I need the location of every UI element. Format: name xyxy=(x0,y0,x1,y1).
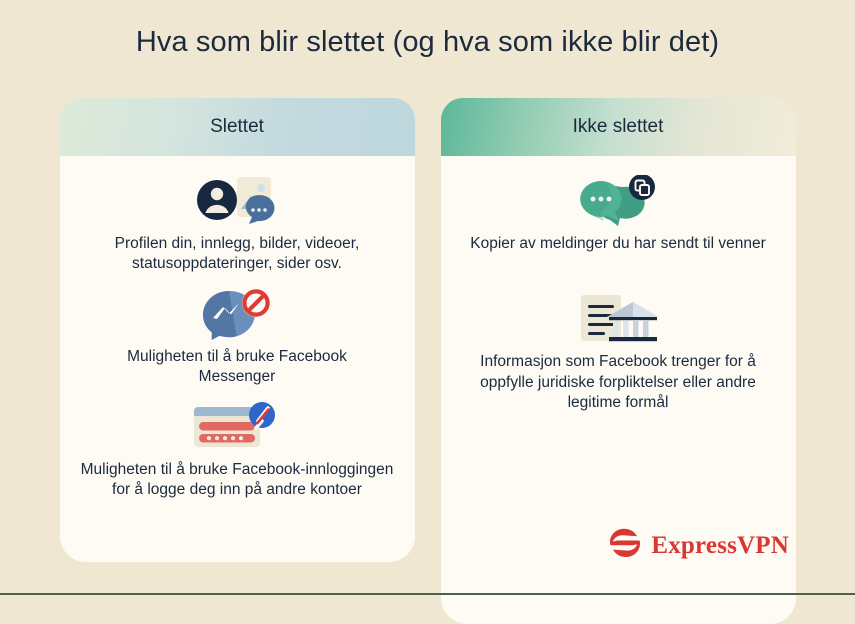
list-item: Profilen din, innlegg, bilder, videoer, … xyxy=(74,174,401,275)
expressvpn-logo-icon xyxy=(608,528,642,563)
login-credentials-key-icon xyxy=(192,400,282,454)
list-item: Muligheten til å bruke Facebook-innloggi… xyxy=(74,400,401,501)
list-item: Muligheten til å bruke Facebook Messenge… xyxy=(74,287,401,388)
messenger-blocked-icon xyxy=(199,287,275,341)
column-header-deleted-label: Slettet xyxy=(210,116,264,138)
list-item: Informasjon som Facebook trenger for å o… xyxy=(455,292,782,413)
column-body-deleted: Profilen din, innlegg, bilder, videoer, … xyxy=(60,156,415,562)
brand-logo: ExpressVPN xyxy=(608,528,789,563)
column-header-not-deleted-label: Ikke slettet xyxy=(573,116,664,138)
column-header-not-deleted: Ikke slettet xyxy=(441,98,796,156)
bottom-divider xyxy=(0,593,855,595)
document-bank-icon xyxy=(575,292,661,346)
list-item-label: Profilen din, innlegg, bilder, videoer, … xyxy=(87,234,387,275)
page-title: Hva som blir slettet (og hva som ikke bl… xyxy=(0,26,855,59)
list-item-label: Muligheten til å bruke Facebook Messenge… xyxy=(87,347,387,388)
infographic-root: Hva som blir slettet (og hva som ikke bl… xyxy=(0,0,855,597)
list-item-label: Kopier av meldinger du har sendt til ven… xyxy=(470,234,766,254)
chat-copy-icon xyxy=(576,174,660,228)
column-header-deleted: Slettet xyxy=(60,98,415,156)
list-item-label: Muligheten til å bruke Facebook-innloggi… xyxy=(77,460,397,501)
list-item-label: Informasjon som Facebook trenger for å o… xyxy=(468,352,768,413)
list-item: Kopier av meldinger du har sendt til ven… xyxy=(455,174,782,254)
profile-photo-message-icon xyxy=(191,174,283,228)
brand-name: ExpressVPN xyxy=(651,532,789,560)
column-deleted: Slettet xyxy=(60,98,415,624)
